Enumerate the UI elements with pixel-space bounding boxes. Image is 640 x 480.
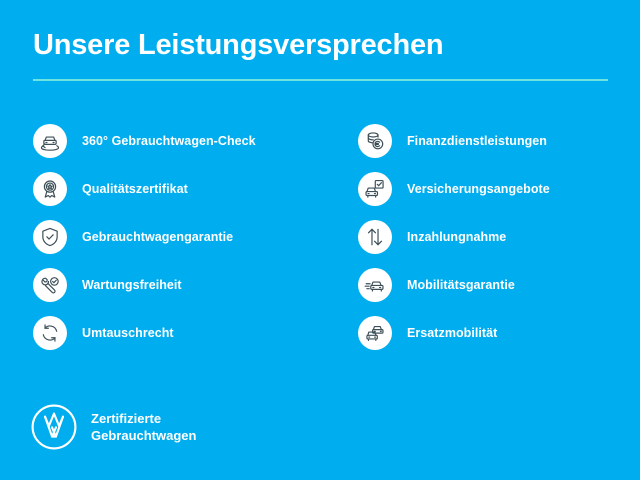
shield-check-icon bbox=[33, 220, 67, 254]
promise-column-left: 360° Gebrauchtwagen-Check Qualitätszerti… bbox=[33, 124, 323, 364]
car-checklist-icon bbox=[358, 172, 392, 206]
promise-item-label: Mobilitätsgarantie bbox=[407, 277, 515, 293]
header: Unsere Leistungsversprechen bbox=[33, 28, 608, 81]
promise-item-mobilitaetsgarantie[interactable]: Mobilitätsgarantie bbox=[358, 268, 638, 302]
brand-text: Zertifizierte Gebrauchtwagen bbox=[91, 410, 196, 444]
volkswagen-logo bbox=[30, 403, 78, 451]
title-divider bbox=[33, 79, 608, 81]
wrench-check-icon bbox=[33, 268, 67, 302]
moving-car-icon bbox=[358, 268, 392, 302]
promise-item-label: Gebrauchtwagengarantie bbox=[82, 229, 233, 245]
award-rosette-icon bbox=[33, 172, 67, 206]
promise-item-inzahlungnahme[interactable]: Inzahlungnahme bbox=[358, 220, 638, 254]
brand-line-1: Zertifizierte bbox=[91, 410, 196, 427]
promise-column-right: Finanzdienstleistungen Versicherungsange… bbox=[358, 124, 638, 364]
promise-item-umtauschrecht[interactable]: Umtauschrecht bbox=[33, 316, 323, 350]
exchange-arrows-icon bbox=[33, 316, 67, 350]
promise-item-label: Ersatzmobilität bbox=[407, 325, 497, 341]
promise-grid: 360° Gebrauchtwagen-Check Qualitätszerti… bbox=[0, 124, 640, 364]
promise-item-label: Qualitätszertifikat bbox=[82, 181, 188, 197]
brand-lockup: Zertifizierte Gebrauchtwagen bbox=[30, 403, 196, 451]
car-360-check-icon bbox=[33, 124, 67, 158]
promise-panel: Unsere Leistungsversprechen 360° Gebrauc… bbox=[0, 0, 640, 480]
up-down-arrows-icon bbox=[358, 220, 392, 254]
coins-euro-icon bbox=[358, 124, 392, 158]
promise-item-label: Wartungsfreiheit bbox=[82, 277, 182, 293]
promise-item-label: 360° Gebrauchtwagen-Check bbox=[82, 133, 256, 149]
promise-item-qualitaetszertifikat[interactable]: Qualitätszertifikat bbox=[33, 172, 323, 206]
page-title: Unsere Leistungsversprechen bbox=[33, 28, 608, 62]
two-cars-icon bbox=[358, 316, 392, 350]
promise-item-label: Inzahlungnahme bbox=[407, 229, 506, 245]
promise-item-gebrauchtwagen-check[interactable]: 360° Gebrauchtwagen-Check bbox=[33, 124, 323, 158]
promise-item-label: Versicherungsangebote bbox=[407, 181, 550, 197]
promise-item-versicherungsangebote[interactable]: Versicherungsangebote bbox=[358, 172, 638, 206]
promise-item-gebrauchtwagengarantie[interactable]: Gebrauchtwagengarantie bbox=[33, 220, 323, 254]
promise-item-label: Finanzdienstleistungen bbox=[407, 133, 547, 149]
promise-item-wartungsfreiheit[interactable]: Wartungsfreiheit bbox=[33, 268, 323, 302]
brand-line-2: Gebrauchtwagen bbox=[91, 427, 196, 444]
promise-item-finanzdienstleistungen[interactable]: Finanzdienstleistungen bbox=[358, 124, 638, 158]
promise-item-ersatzmobilitaet[interactable]: Ersatzmobilität bbox=[358, 316, 638, 350]
promise-item-label: Umtauschrecht bbox=[82, 325, 174, 341]
